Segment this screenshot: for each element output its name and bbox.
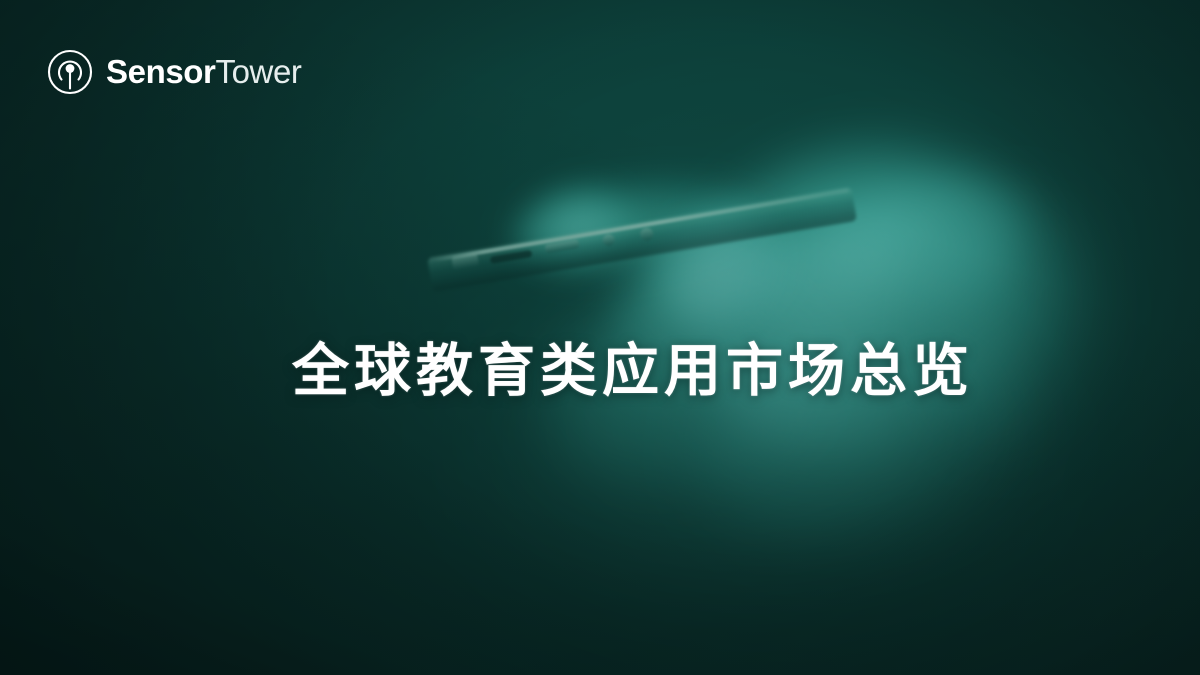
title-slide: SensorTower 全球教育类应用市场总览 — [0, 0, 1200, 675]
logo-word-sensor: Sensor — [106, 53, 215, 90]
logo-word-tower: Tower — [215, 53, 301, 90]
sensor-tower-beacon-icon — [46, 48, 94, 96]
sensor-tower-logo[interactable]: SensorTower — [46, 48, 302, 96]
slide-title: 全球教育类应用市场总览 — [292, 338, 974, 405]
logo-wordmark: SensorTower — [106, 55, 302, 90]
